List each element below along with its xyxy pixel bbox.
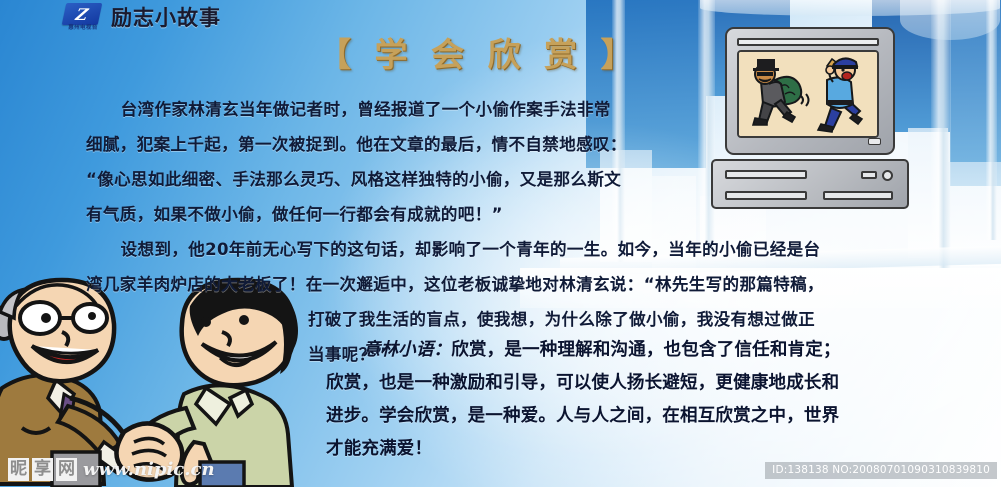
closing-commentary: 意林小语：欣赏，是一种理解和沟通，也包含了信任和肯定； 欣赏，也是一种激励和引导… [326, 334, 948, 466]
closing-line-3: 进步。学会欣赏，是一种爱。人与人之间，在相互欣赏之中，世界 [326, 400, 948, 433]
poster-canvas: Z 惠州电视台 励志小故事 【 学 会 欣 赏 】 [0, 0, 1001, 487]
image-id-tag: ID:138138 NO:20080701090310839810 [765, 462, 997, 479]
p2-line-1: 设想到，他20年前无心写下的这句话，却影响了一个青年的一生。如今，当年的小偷已经… [86, 232, 948, 267]
closing-line-1-text: 欣赏，是一种理解和沟通，也包含了信任和肯定； [451, 340, 840, 360]
watermark-char-2: 享 [32, 458, 53, 481]
closing-lead-label: 意林小语： [363, 340, 452, 360]
logo-caption: 惠州电视台 [62, 23, 104, 31]
p1-line-3: “像心思如此细密、手法那么灵巧、风格这样独特的小偷，又是那么斯文 [86, 162, 948, 197]
brand-title: 励志小故事 [111, 2, 221, 32]
watermark: 昵 享 网 www.nipic.cn [8, 458, 215, 481]
p1-line-2: 细腻，犯案上千起，第一次被捉到。他在文章的最后，情不自禁地感叹： [86, 127, 948, 162]
closing-line-2: 欣赏，也是一种激励和引导，可以使人扬长避短，更健康地成长和 [326, 367, 948, 400]
tv-station-logo-icon: Z 惠州电视台 [60, 3, 104, 31]
p2-quote-line-1: 打破了我生活的盲点，使我想，为什么除了做小偷，我没有想过做正 [308, 302, 948, 337]
pillar-far-right [986, 0, 997, 240]
watermark-logo: 昵 享 网 [8, 458, 77, 481]
watermark-char-3: 网 [56, 458, 77, 481]
p2-line-2: 湾几家羊肉炉店的大老板了！在一次邂逅中，这位老板诚挚地对林清玄说：“林先生写的那… [86, 267, 948, 302]
canopy-dome [900, 0, 1000, 40]
story-text: 台湾作家林清玄当年做记者时，曾经报道了一个小偷作案手法非常 细腻，犯案上千起，第… [86, 92, 948, 372]
p1-line-4: 有气质，如果不做小偷，做任何一行都会有成就的吧！” [86, 197, 948, 232]
p1-line-1: 台湾作家林清玄当年做记者时，曾经报道了一个小偷作案手法非常 [86, 92, 948, 127]
page-title: 【 学 会 欣 赏 】 [318, 28, 639, 76]
closing-line-1: 意林小语：欣赏，是一种理解和沟通，也包含了信任和肯定； [326, 334, 948, 367]
monitor-top-bezel [737, 38, 879, 46]
logo-letter: Z [62, 3, 103, 25]
paragraph-2: 设想到，他20年前无心写下的这句话，却影响了一个青年的一生。如今，当年的小偷已经… [86, 232, 948, 302]
watermark-char-1: 昵 [8, 458, 29, 481]
brand-header: Z 惠州电视台 励志小故事 [60, 2, 221, 32]
watermark-url: www.nipic.cn [83, 459, 215, 480]
paragraph-1: 台湾作家林清玄当年做记者时，曾经报道了一个小偷作案手法非常 细腻，犯案上千起，第… [86, 92, 948, 232]
